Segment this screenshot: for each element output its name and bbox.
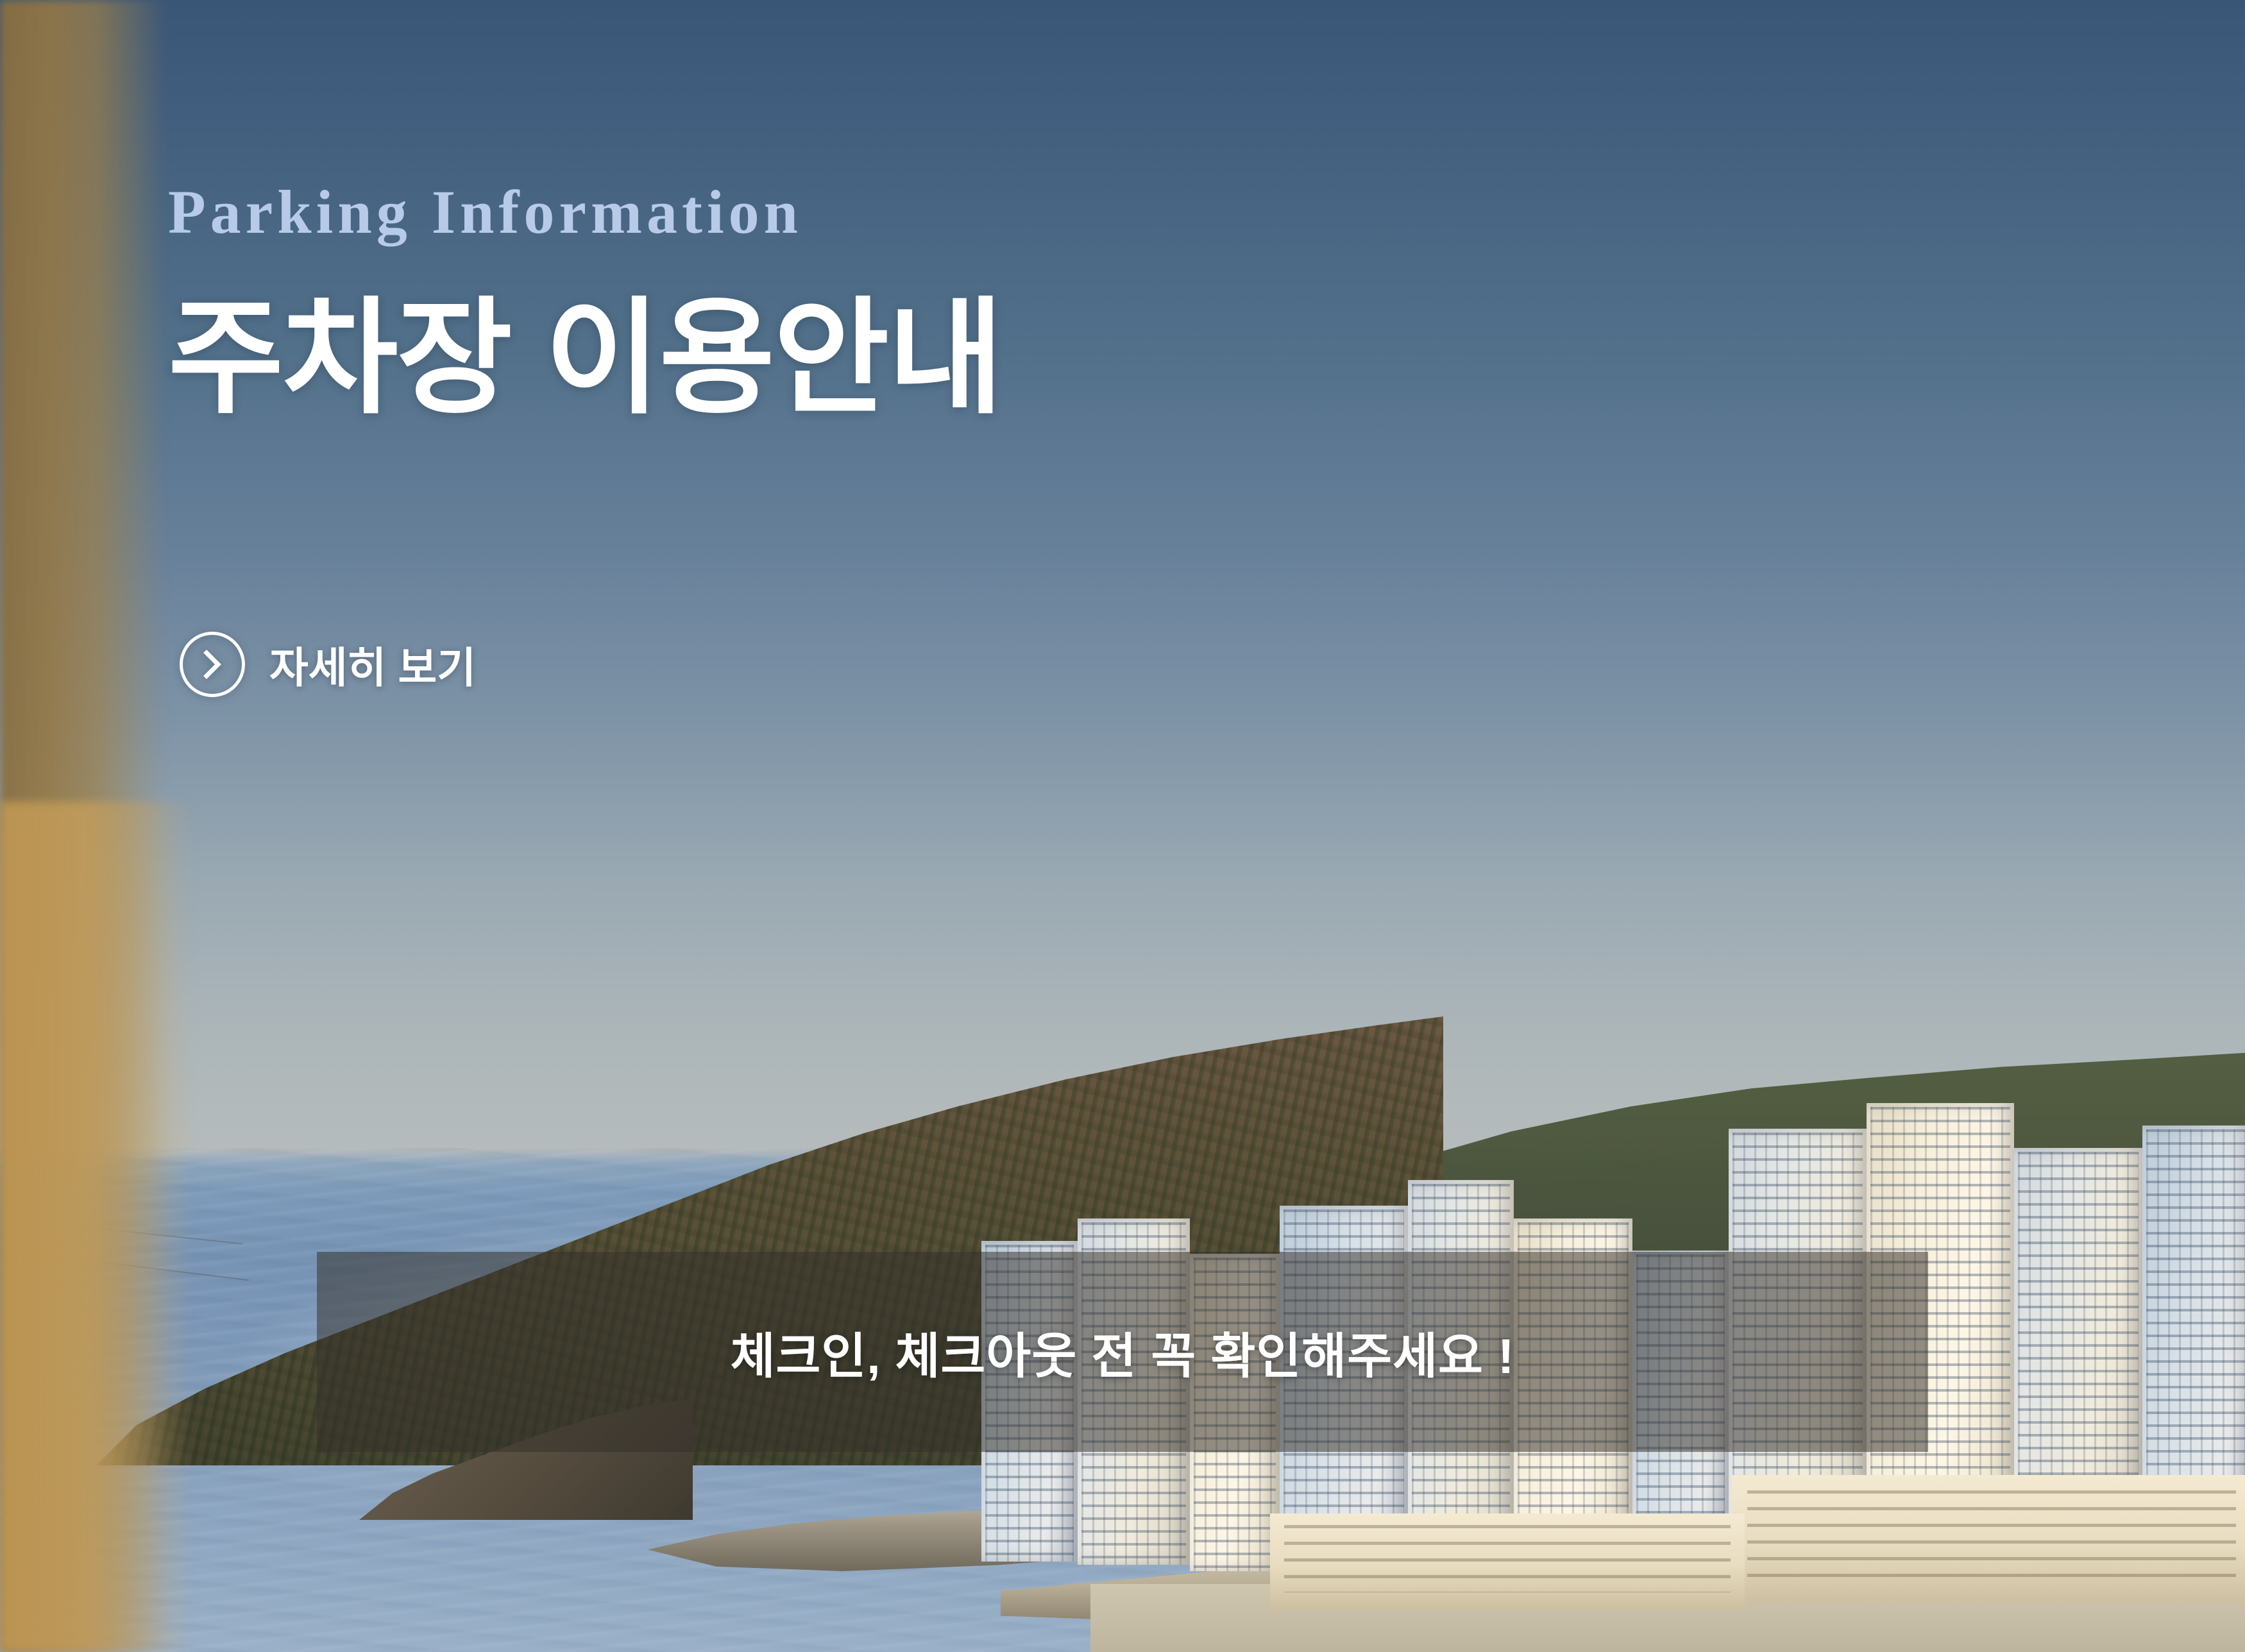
notice-banner: 체크인, 체크아웃 전 꼭 확인해주세요 !	[317, 1252, 1928, 1452]
detail-link-label: 자세히 보기	[269, 634, 476, 695]
notice-text: 체크인, 체크아웃 전 꼭 확인해주세요 !	[731, 1317, 1515, 1387]
hero-banner: Parking Information 주차장 이용안내 자세히 보기 체크인,…	[0, 0, 2245, 1652]
hero-eyebrow: Parking Information	[168, 181, 802, 243]
photo-left-edge-warm-blur	[0, 802, 192, 1652]
shopping-podium	[1732, 1475, 2245, 1603]
detail-link[interactable]: 자세히 보기	[180, 632, 476, 697]
sky-gradient	[0, 0, 2245, 1161]
page-title: 주차장 이용안내	[168, 292, 1003, 425]
chevron-right-circle-icon	[180, 632, 245, 697]
shopping-podium	[1270, 1513, 1745, 1610]
